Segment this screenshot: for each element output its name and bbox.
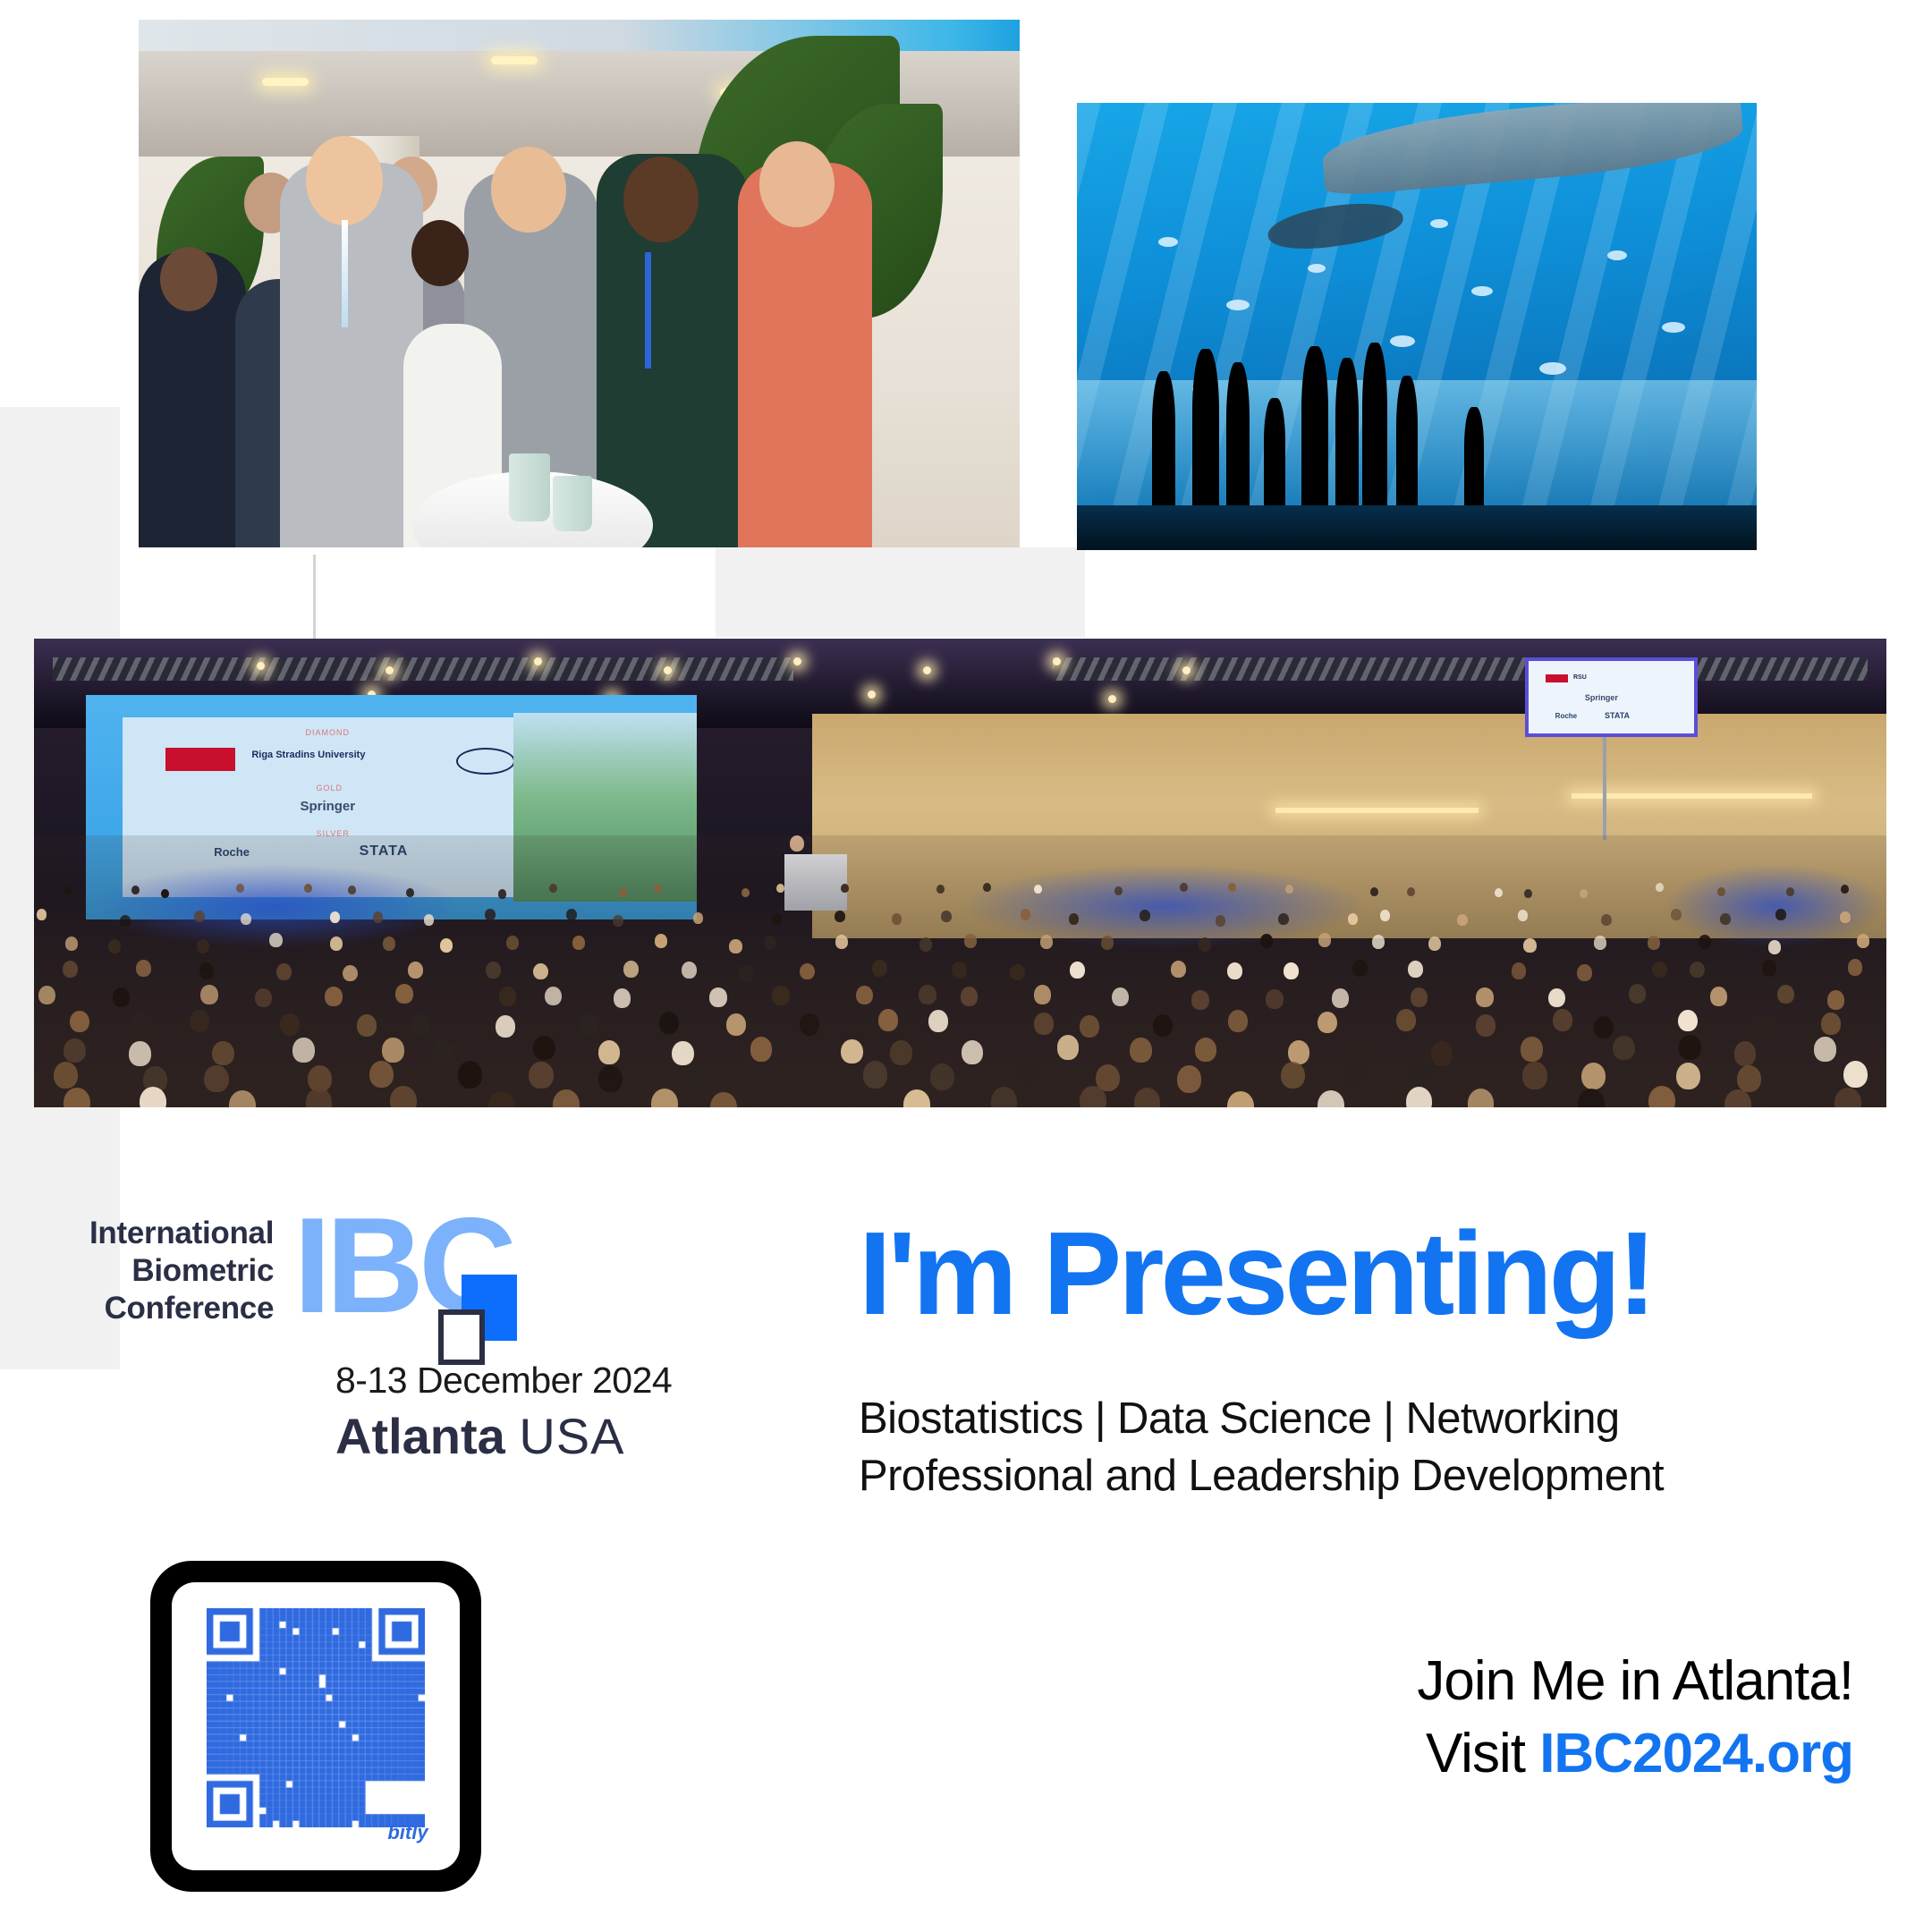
audience-head bbox=[1396, 1009, 1416, 1031]
audience-head bbox=[964, 934, 977, 948]
audience-head bbox=[132, 1012, 152, 1034]
audience-head bbox=[280, 1013, 300, 1036]
audience-head bbox=[343, 965, 358, 982]
audience-head bbox=[841, 884, 849, 893]
audience-head bbox=[197, 939, 209, 953]
audience-head bbox=[566, 909, 577, 920]
poster-canvas: DIAMOND Riga Stradins University GOLD Sp… bbox=[0, 0, 1932, 1932]
audience-head bbox=[952, 962, 967, 979]
visitor-silhouette bbox=[1152, 371, 1175, 505]
audience-head bbox=[1140, 910, 1150, 921]
audience-head bbox=[54, 1062, 78, 1089]
riga-logo-icon bbox=[1546, 674, 1569, 683]
audience-head bbox=[1821, 1013, 1841, 1035]
sponsor-tier-label: GOLD bbox=[316, 784, 343, 792]
topics-line-1: Biostatistics | Data Science | Networkin… bbox=[859, 1391, 1664, 1448]
audience-head bbox=[1580, 889, 1588, 898]
wall-light bbox=[1275, 808, 1479, 813]
event-dates: 8-13 December 2024 bbox=[335, 1360, 769, 1402]
photo-person-head bbox=[759, 141, 835, 227]
audience-head bbox=[777, 1062, 801, 1089]
audience-head bbox=[1281, 1062, 1305, 1089]
audience-head bbox=[1153, 1014, 1173, 1037]
audience-head bbox=[872, 960, 887, 977]
visitor-silhouette bbox=[1226, 362, 1250, 505]
audience-head bbox=[1431, 1041, 1453, 1066]
fish-icon bbox=[1390, 335, 1415, 347]
audience-head bbox=[1548, 988, 1565, 1008]
audience-head bbox=[38, 986, 55, 1005]
audience-head bbox=[408, 962, 423, 979]
spotlight-icon bbox=[257, 662, 265, 670]
audience-head bbox=[1594, 936, 1606, 950]
audience-head bbox=[1266, 989, 1283, 1009]
audience-head bbox=[529, 1062, 553, 1089]
audience-head bbox=[190, 1010, 209, 1032]
audience-head bbox=[572, 936, 585, 950]
audience-head bbox=[496, 1015, 515, 1038]
audience-head bbox=[1171, 961, 1186, 978]
audience-head bbox=[672, 1041, 694, 1066]
audience-head bbox=[1457, 914, 1468, 926]
audience-head bbox=[236, 884, 244, 893]
audience-head bbox=[369, 1061, 394, 1088]
audience-head bbox=[1177, 1065, 1201, 1092]
audience-head bbox=[1523, 938, 1536, 953]
audience-head bbox=[772, 986, 789, 1005]
audience-head bbox=[1710, 987, 1727, 1006]
audience-head bbox=[1840, 911, 1851, 923]
audience-head bbox=[136, 960, 151, 977]
monitor-stand bbox=[1603, 737, 1606, 840]
audience-head bbox=[1601, 914, 1612, 926]
audience-head bbox=[579, 1013, 598, 1036]
audience-head bbox=[1737, 1065, 1761, 1092]
audience-head bbox=[892, 913, 902, 925]
audience-head bbox=[614, 988, 631, 1008]
audience-head bbox=[1407, 887, 1415, 896]
fish-icon bbox=[1539, 362, 1566, 375]
cta-visit-label: Visit bbox=[1426, 1723, 1539, 1784]
audience-head bbox=[655, 934, 667, 948]
audience-head bbox=[1285, 885, 1293, 894]
audience-head bbox=[1040, 935, 1053, 949]
audience-head bbox=[411, 1014, 430, 1037]
audience-head bbox=[1411, 987, 1428, 1007]
visitor-silhouette bbox=[1396, 376, 1418, 505]
sponsor-name: Springer bbox=[1585, 693, 1618, 702]
audience-head bbox=[1070, 962, 1085, 979]
audience-head bbox=[764, 936, 776, 950]
audience-head bbox=[1594, 1016, 1614, 1038]
audience-head bbox=[383, 936, 395, 951]
audience-head bbox=[800, 1013, 819, 1036]
audience-head bbox=[619, 888, 627, 897]
audience-head bbox=[1775, 909, 1786, 920]
sponsor-name: Roche bbox=[1555, 712, 1577, 720]
audience-head bbox=[1857, 934, 1869, 948]
audience-head bbox=[1101, 936, 1114, 950]
audience-head bbox=[1581, 1063, 1606, 1089]
visitor-silhouette bbox=[1464, 407, 1484, 505]
audience-head bbox=[161, 889, 169, 898]
spotlight-icon bbox=[868, 691, 876, 699]
audience-head bbox=[962, 1040, 984, 1065]
audience-head bbox=[1720, 913, 1731, 925]
audience-head bbox=[1017, 1060, 1041, 1087]
audience-head bbox=[1112, 987, 1129, 1007]
audience-head bbox=[1352, 960, 1368, 977]
audience-head bbox=[1372, 935, 1385, 949]
audience-head bbox=[1777, 985, 1794, 1004]
qr-code-surface[interactable]: bitly bbox=[172, 1582, 460, 1870]
audience-head bbox=[1428, 936, 1441, 951]
audience-head bbox=[1522, 1062, 1546, 1089]
ceiling-lamp-icon bbox=[262, 78, 309, 86]
visitor-silhouette bbox=[1264, 398, 1285, 505]
audience-head bbox=[1518, 910, 1529, 921]
event-city: Atlanta bbox=[335, 1408, 505, 1464]
spotlight-icon bbox=[1108, 695, 1116, 703]
audience-head bbox=[1678, 1010, 1698, 1032]
audience-head bbox=[693, 912, 704, 924]
audience-head bbox=[113, 987, 130, 1007]
audience-head bbox=[1260, 934, 1273, 948]
audience-head bbox=[1613, 1036, 1635, 1061]
audience-head bbox=[485, 909, 496, 920]
audience-head bbox=[1648, 936, 1660, 950]
audience-head bbox=[348, 885, 356, 894]
audience-head bbox=[194, 911, 205, 922]
cta-line-2: Visit IBC2024.org bbox=[1417, 1718, 1853, 1791]
ibc-logo: IBC bbox=[293, 1207, 512, 1325]
audience-head bbox=[856, 986, 873, 1005]
audience-head bbox=[1408, 961, 1423, 978]
audience-head bbox=[613, 915, 623, 927]
audience-head bbox=[276, 963, 292, 980]
audience-head bbox=[1476, 987, 1493, 1007]
audience-head bbox=[1762, 960, 1777, 977]
audience-head bbox=[1671, 909, 1682, 920]
audience-head bbox=[961, 987, 978, 1006]
audience-head bbox=[878, 1009, 898, 1031]
audience-head bbox=[598, 1065, 623, 1092]
cta-line-1: Join Me in Atlanta! bbox=[1417, 1646, 1853, 1718]
audience-head bbox=[63, 961, 78, 978]
audience-head bbox=[1195, 1038, 1217, 1063]
audience-head bbox=[431, 1039, 453, 1064]
audience-head bbox=[304, 884, 312, 893]
photo-networking bbox=[139, 20, 1020, 547]
audience-head bbox=[1278, 913, 1289, 925]
audience-head bbox=[357, 1014, 377, 1037]
coffee-mug-icon bbox=[553, 476, 592, 531]
audience-head bbox=[506, 936, 519, 950]
audience-head bbox=[1216, 915, 1226, 927]
audience-head bbox=[424, 914, 435, 926]
photo-person-head bbox=[491, 147, 566, 233]
audience-head bbox=[1228, 883, 1236, 892]
audience-head bbox=[1524, 889, 1532, 898]
side-monitor-screen: RSU Springer Roche STATA bbox=[1525, 657, 1698, 737]
sponsor-tier-label: DIAMOND bbox=[305, 728, 350, 737]
vertical-divider-line bbox=[313, 555, 316, 640]
photo-person-head bbox=[160, 247, 217, 311]
audience-head bbox=[1652, 962, 1667, 979]
conference-wordmark: International Biometric Conference bbox=[89, 1207, 274, 1327]
audience-head bbox=[1410, 1061, 1434, 1088]
audience-head bbox=[64, 886, 72, 895]
photo-conference-hall: DIAMOND Riga Stradins University GOLD Sp… bbox=[34, 639, 1886, 1107]
audience-head bbox=[199, 962, 215, 979]
wordmark-line-2: Biometric bbox=[89, 1252, 274, 1290]
lighting-truss bbox=[1053, 657, 1868, 681]
audience-head bbox=[1348, 913, 1359, 925]
audience-head bbox=[1699, 935, 1711, 949]
audience-head bbox=[919, 985, 936, 1004]
wordmark-line-1: International bbox=[89, 1215, 274, 1252]
audience-head bbox=[1227, 962, 1242, 979]
audience-head bbox=[1553, 1009, 1572, 1031]
coffee-mug-icon bbox=[509, 453, 550, 521]
audience-head bbox=[395, 984, 412, 1004]
audience-head bbox=[1843, 1061, 1868, 1088]
topics-subheading: Biostatistics | Data Science | Networkin… bbox=[859, 1391, 1664, 1504]
audience-head bbox=[739, 965, 754, 982]
audience-head bbox=[1114, 886, 1123, 895]
audience-head bbox=[1228, 1010, 1248, 1032]
audience-head bbox=[499, 987, 516, 1006]
audience-head bbox=[325, 987, 342, 1006]
audience-head bbox=[1629, 984, 1646, 1004]
bitly-watermark: bitly bbox=[387, 1821, 428, 1844]
fish-icon bbox=[1607, 250, 1627, 260]
audience-head bbox=[772, 913, 783, 925]
audience-head bbox=[682, 962, 697, 979]
audience-head bbox=[1734, 1041, 1757, 1066]
background-panel-middle bbox=[716, 547, 1085, 637]
audience-head bbox=[382, 1038, 404, 1063]
audience-head bbox=[1717, 887, 1725, 896]
audience-head bbox=[212, 1041, 234, 1066]
audience-head bbox=[863, 1061, 887, 1088]
audience-head bbox=[729, 939, 741, 953]
audience-head bbox=[1512, 962, 1527, 979]
audience-head bbox=[204, 1065, 228, 1092]
topics-line-2: Professional and Leadership Development bbox=[859, 1448, 1664, 1505]
page-title: I'm Presenting! bbox=[859, 1206, 1653, 1341]
audience-head bbox=[659, 1012, 679, 1034]
visitor-silhouette bbox=[1362, 343, 1387, 505]
photo-person-head bbox=[623, 157, 699, 242]
audience-head bbox=[1380, 910, 1391, 921]
spotlight-icon bbox=[793, 657, 801, 665]
audience-head bbox=[129, 1041, 151, 1066]
lanyard-icon bbox=[645, 252, 651, 369]
audience-head bbox=[131, 885, 140, 894]
audience-head bbox=[1476, 1014, 1496, 1037]
audience-head bbox=[1130, 1038, 1152, 1063]
audience-head bbox=[533, 963, 548, 980]
audience-head bbox=[1180, 883, 1188, 892]
audience-head bbox=[1753, 1015, 1773, 1038]
riga-logo-icon bbox=[165, 748, 235, 771]
wordmark-line-3: Conference bbox=[89, 1290, 274, 1327]
audience-head bbox=[1656, 883, 1664, 892]
audience-head bbox=[70, 1011, 89, 1033]
audience-head bbox=[598, 1040, 621, 1065]
aquarium-floor bbox=[1077, 505, 1757, 550]
audience-head bbox=[1318, 1012, 1337, 1034]
event-location: Atlanta USA bbox=[335, 1407, 769, 1465]
audience-head bbox=[1342, 1062, 1366, 1089]
lighting-truss bbox=[53, 657, 793, 681]
audience-head bbox=[709, 987, 726, 1007]
sponsor-name: STATA bbox=[1605, 711, 1630, 720]
wall-light bbox=[1572, 793, 1812, 799]
audience-head bbox=[800, 963, 815, 980]
audience-head bbox=[1069, 913, 1080, 925]
logo-outline-square-icon bbox=[438, 1309, 485, 1365]
audience-head bbox=[1318, 933, 1331, 947]
audience-head bbox=[545, 987, 562, 1006]
audience-head bbox=[292, 1038, 315, 1063]
audience-head bbox=[1827, 990, 1844, 1010]
audience-head bbox=[498, 889, 506, 898]
audience-head bbox=[941, 911, 952, 922]
visitor-silhouette bbox=[1192, 349, 1219, 505]
audience-head bbox=[1080, 1015, 1099, 1038]
audience-head bbox=[1679, 1035, 1701, 1060]
visitor-silhouette bbox=[1335, 358, 1359, 505]
sponsor-name: RSU bbox=[1573, 674, 1587, 681]
audience-head bbox=[1841, 885, 1849, 894]
photo-person-head bbox=[306, 136, 383, 225]
cta-url[interactable]: IBC2024.org bbox=[1539, 1723, 1853, 1784]
sponsor-name: Riga Stradins University bbox=[251, 750, 365, 760]
audience-head bbox=[373, 911, 384, 923]
audience-head bbox=[65, 936, 78, 951]
audience-head bbox=[1848, 959, 1863, 976]
audience-head bbox=[64, 1038, 86, 1063]
call-to-action: Join Me in Atlanta! Visit IBC2024.org bbox=[1417, 1646, 1853, 1790]
visitor-silhouette bbox=[1301, 346, 1328, 505]
audience-head bbox=[1034, 1013, 1054, 1035]
qr-code-matrix[interactable] bbox=[207, 1608, 426, 1827]
audience-head bbox=[330, 911, 341, 923]
audience-head bbox=[533, 1036, 555, 1061]
photo-aquarium bbox=[1077, 103, 1757, 550]
qr-code-card[interactable]: bitly bbox=[150, 1561, 481, 1892]
fish-icon bbox=[1662, 322, 1685, 333]
audience-head bbox=[726, 1013, 746, 1036]
audience-head bbox=[1199, 937, 1211, 952]
audience-head bbox=[1034, 985, 1051, 1004]
audience-head bbox=[623, 961, 639, 978]
audience-head bbox=[1521, 1037, 1543, 1062]
audience-head bbox=[1768, 940, 1781, 954]
audience-head bbox=[1191, 990, 1208, 1010]
audience-head bbox=[841, 1039, 863, 1064]
audience-head bbox=[1057, 1035, 1080, 1060]
audience-head bbox=[440, 938, 453, 953]
audience-head bbox=[1010, 964, 1025, 981]
event-details: 8-13 December 2024 Atlanta USA bbox=[89, 1360, 769, 1465]
audience-head bbox=[458, 1061, 482, 1088]
spotlight-icon bbox=[1053, 657, 1061, 665]
audience-head bbox=[835, 935, 848, 949]
audience-head bbox=[1021, 909, 1031, 920]
audience-head bbox=[654, 885, 662, 894]
ibc-brand-block: International Biometric Conference IBC 8… bbox=[89, 1207, 769, 1465]
audience-head bbox=[37, 909, 47, 920]
lanyard-icon bbox=[342, 220, 348, 327]
audience-head bbox=[930, 1063, 954, 1090]
fish-icon bbox=[1226, 300, 1250, 310]
audience-head bbox=[120, 915, 131, 927]
audience-head bbox=[255, 988, 272, 1008]
audience-head bbox=[928, 1010, 948, 1032]
audience-head bbox=[406, 888, 414, 897]
event-country: USA bbox=[519, 1408, 624, 1464]
audience-head bbox=[486, 962, 501, 979]
audience-head bbox=[1676, 1063, 1700, 1089]
audience-head bbox=[108, 939, 121, 953]
ceiling-lamp-icon bbox=[491, 56, 538, 64]
audience-head bbox=[330, 936, 343, 951]
sponsor-name: Springer bbox=[300, 799, 355, 814]
audience-head bbox=[269, 933, 282, 947]
audience-head bbox=[835, 911, 845, 922]
audience-head bbox=[1577, 964, 1592, 981]
audience-head bbox=[681, 1064, 705, 1091]
audience-head bbox=[1814, 1037, 1836, 1062]
audience-head bbox=[1332, 988, 1349, 1008]
audience-head bbox=[549, 884, 557, 893]
audience-head bbox=[1690, 962, 1705, 979]
audience-head bbox=[200, 985, 217, 1004]
sponsor-seal-icon bbox=[456, 748, 515, 775]
fish-icon bbox=[1471, 286, 1493, 296]
audience-head bbox=[1284, 962, 1299, 979]
audience-head bbox=[890, 1040, 912, 1065]
audience-head bbox=[750, 1037, 773, 1062]
